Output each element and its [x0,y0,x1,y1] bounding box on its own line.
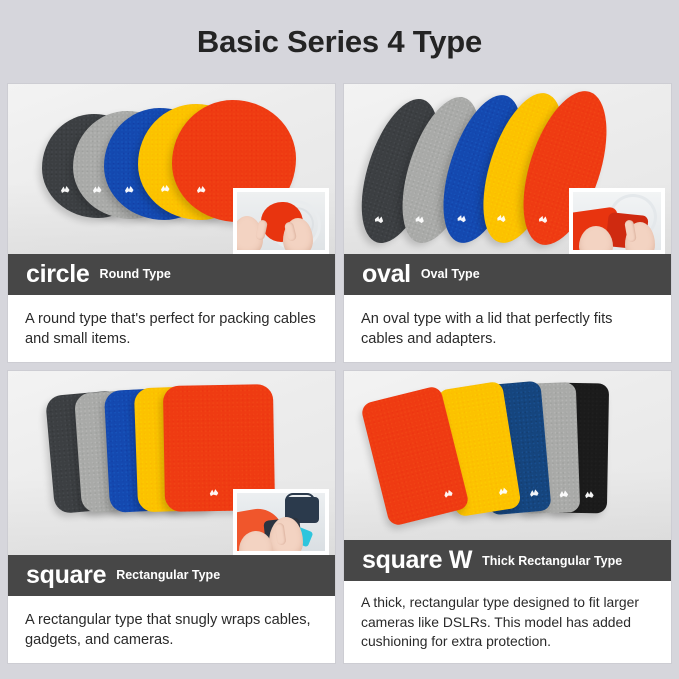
product-photo-square [8,371,335,555]
product-card-square-w[interactable]: square W Thick Rectangular Type A thick,… [344,371,671,663]
page-title: Basic Series 4 Type [197,24,482,60]
brand-logo-icon [196,185,207,194]
type-subtitle: Oval Type [421,267,480,281]
description-circle: A round type that's perfect for packing … [8,295,335,362]
product-card-circle[interactable]: circle Round Type A round type that's pe… [8,84,335,362]
product-photo-square-w [344,371,671,540]
description-square: A rectangular type that snugly wraps cab… [8,596,335,663]
label-bar-circle: circle Round Type [8,254,335,295]
inset-scene [237,192,325,250]
inset-scene [573,192,661,250]
bag-strap-prop [285,493,315,507]
usage-inset-square [233,489,329,555]
product-type-grid: circle Round Type A round type that's pe… [0,84,679,663]
product-card-oval[interactable]: oval Oval Type An oval type with a lid t… [344,84,671,362]
brand-logo-icon [60,185,71,194]
type-subtitle: Round Type [100,267,171,281]
title-bar: Basic Series 4 Type [0,0,679,84]
label-bar-oval: oval Oval Type [344,254,671,295]
brand-logo-icon [92,185,103,194]
label-bar-square: square Rectangular Type [8,555,335,596]
brand-logo-icon [160,184,171,193]
type-name: circle [26,262,90,287]
type-name: oval [362,262,411,287]
product-card-square[interactable]: square Rectangular Type A rectangular ty… [8,371,335,663]
brand-logo-icon [584,490,595,499]
description-square-w: A thick, rectangular type designed to fi… [344,581,671,663]
brand-logo-icon [529,488,541,498]
usage-inset-circle [233,188,329,254]
infographic-page: Basic Series 4 Type [0,0,679,679]
product-photo-circle [8,84,335,254]
type-subtitle: Thick Rectangular Type [482,554,622,568]
product-item-stack [344,371,671,540]
usage-inset-oval [569,188,665,254]
brand-logo-icon [558,489,569,498]
description-oval: An oval type with a lid that perfectly f… [344,295,671,362]
product-photo-oval [344,84,671,254]
label-bar-square-w: square W Thick Rectangular Type [344,540,671,581]
inset-scene [237,493,325,551]
brand-logo-icon [497,486,509,497]
brand-logo-icon [209,488,220,497]
type-subtitle: Rectangular Type [116,568,220,582]
type-name: square [26,563,106,588]
brand-logo-icon [124,185,135,194]
type-name: square W [362,548,472,573]
